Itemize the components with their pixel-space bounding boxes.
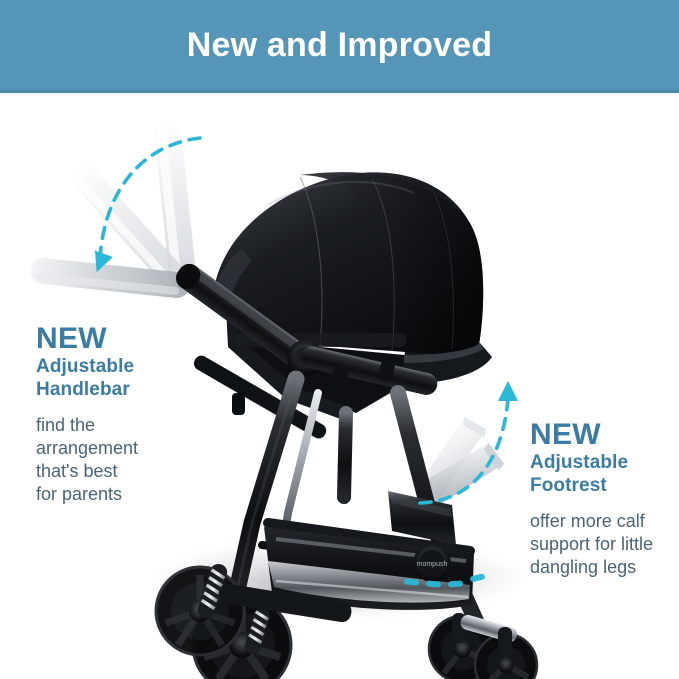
feature-description-left: find the arrangement that's best for par… <box>36 414 216 506</box>
feature-title-left-line-2: Handlebar <box>36 378 216 401</box>
brand-logo: mompush <box>417 561 448 568</box>
product-stage: mompush <box>0 93 679 679</box>
feature-description-left-line-4: for parents <box>36 483 216 506</box>
new-badge-left: NEW <box>36 324 216 355</box>
feature-description-right-line-2: support for little <box>530 533 679 556</box>
feature-title-right-line-2: Footrest <box>530 474 679 497</box>
feature-description-left-line-3: that's best <box>36 460 216 483</box>
feature-description-right: offer more calf support for little dangl… <box>530 510 679 579</box>
feature-title-left-line-1: Adjustable <box>36 355 216 378</box>
annotation-adjustable-handlebar: NEW Adjustable Handlebar find the arrang… <box>36 324 216 506</box>
feature-description-left-line-2: arrangement <box>36 437 216 460</box>
ghost-handlebar-positions <box>29 121 197 300</box>
header-banner: New and Improved <box>0 0 679 93</box>
page-title: New and Improved <box>187 28 492 62</box>
feature-description-right-line-1: offer more calf <box>530 510 679 533</box>
feature-description-right-line-3: dangling legs <box>530 556 679 579</box>
new-badge-right: NEW <box>530 420 679 451</box>
feature-description-left-line-1: find the <box>36 414 216 437</box>
annotation-adjustable-footrest: NEW Adjustable Footrest offer more calf … <box>530 420 679 579</box>
feature-title-right-line-1: Adjustable <box>530 451 679 474</box>
product-feature-image: New and Improved <box>0 0 679 679</box>
